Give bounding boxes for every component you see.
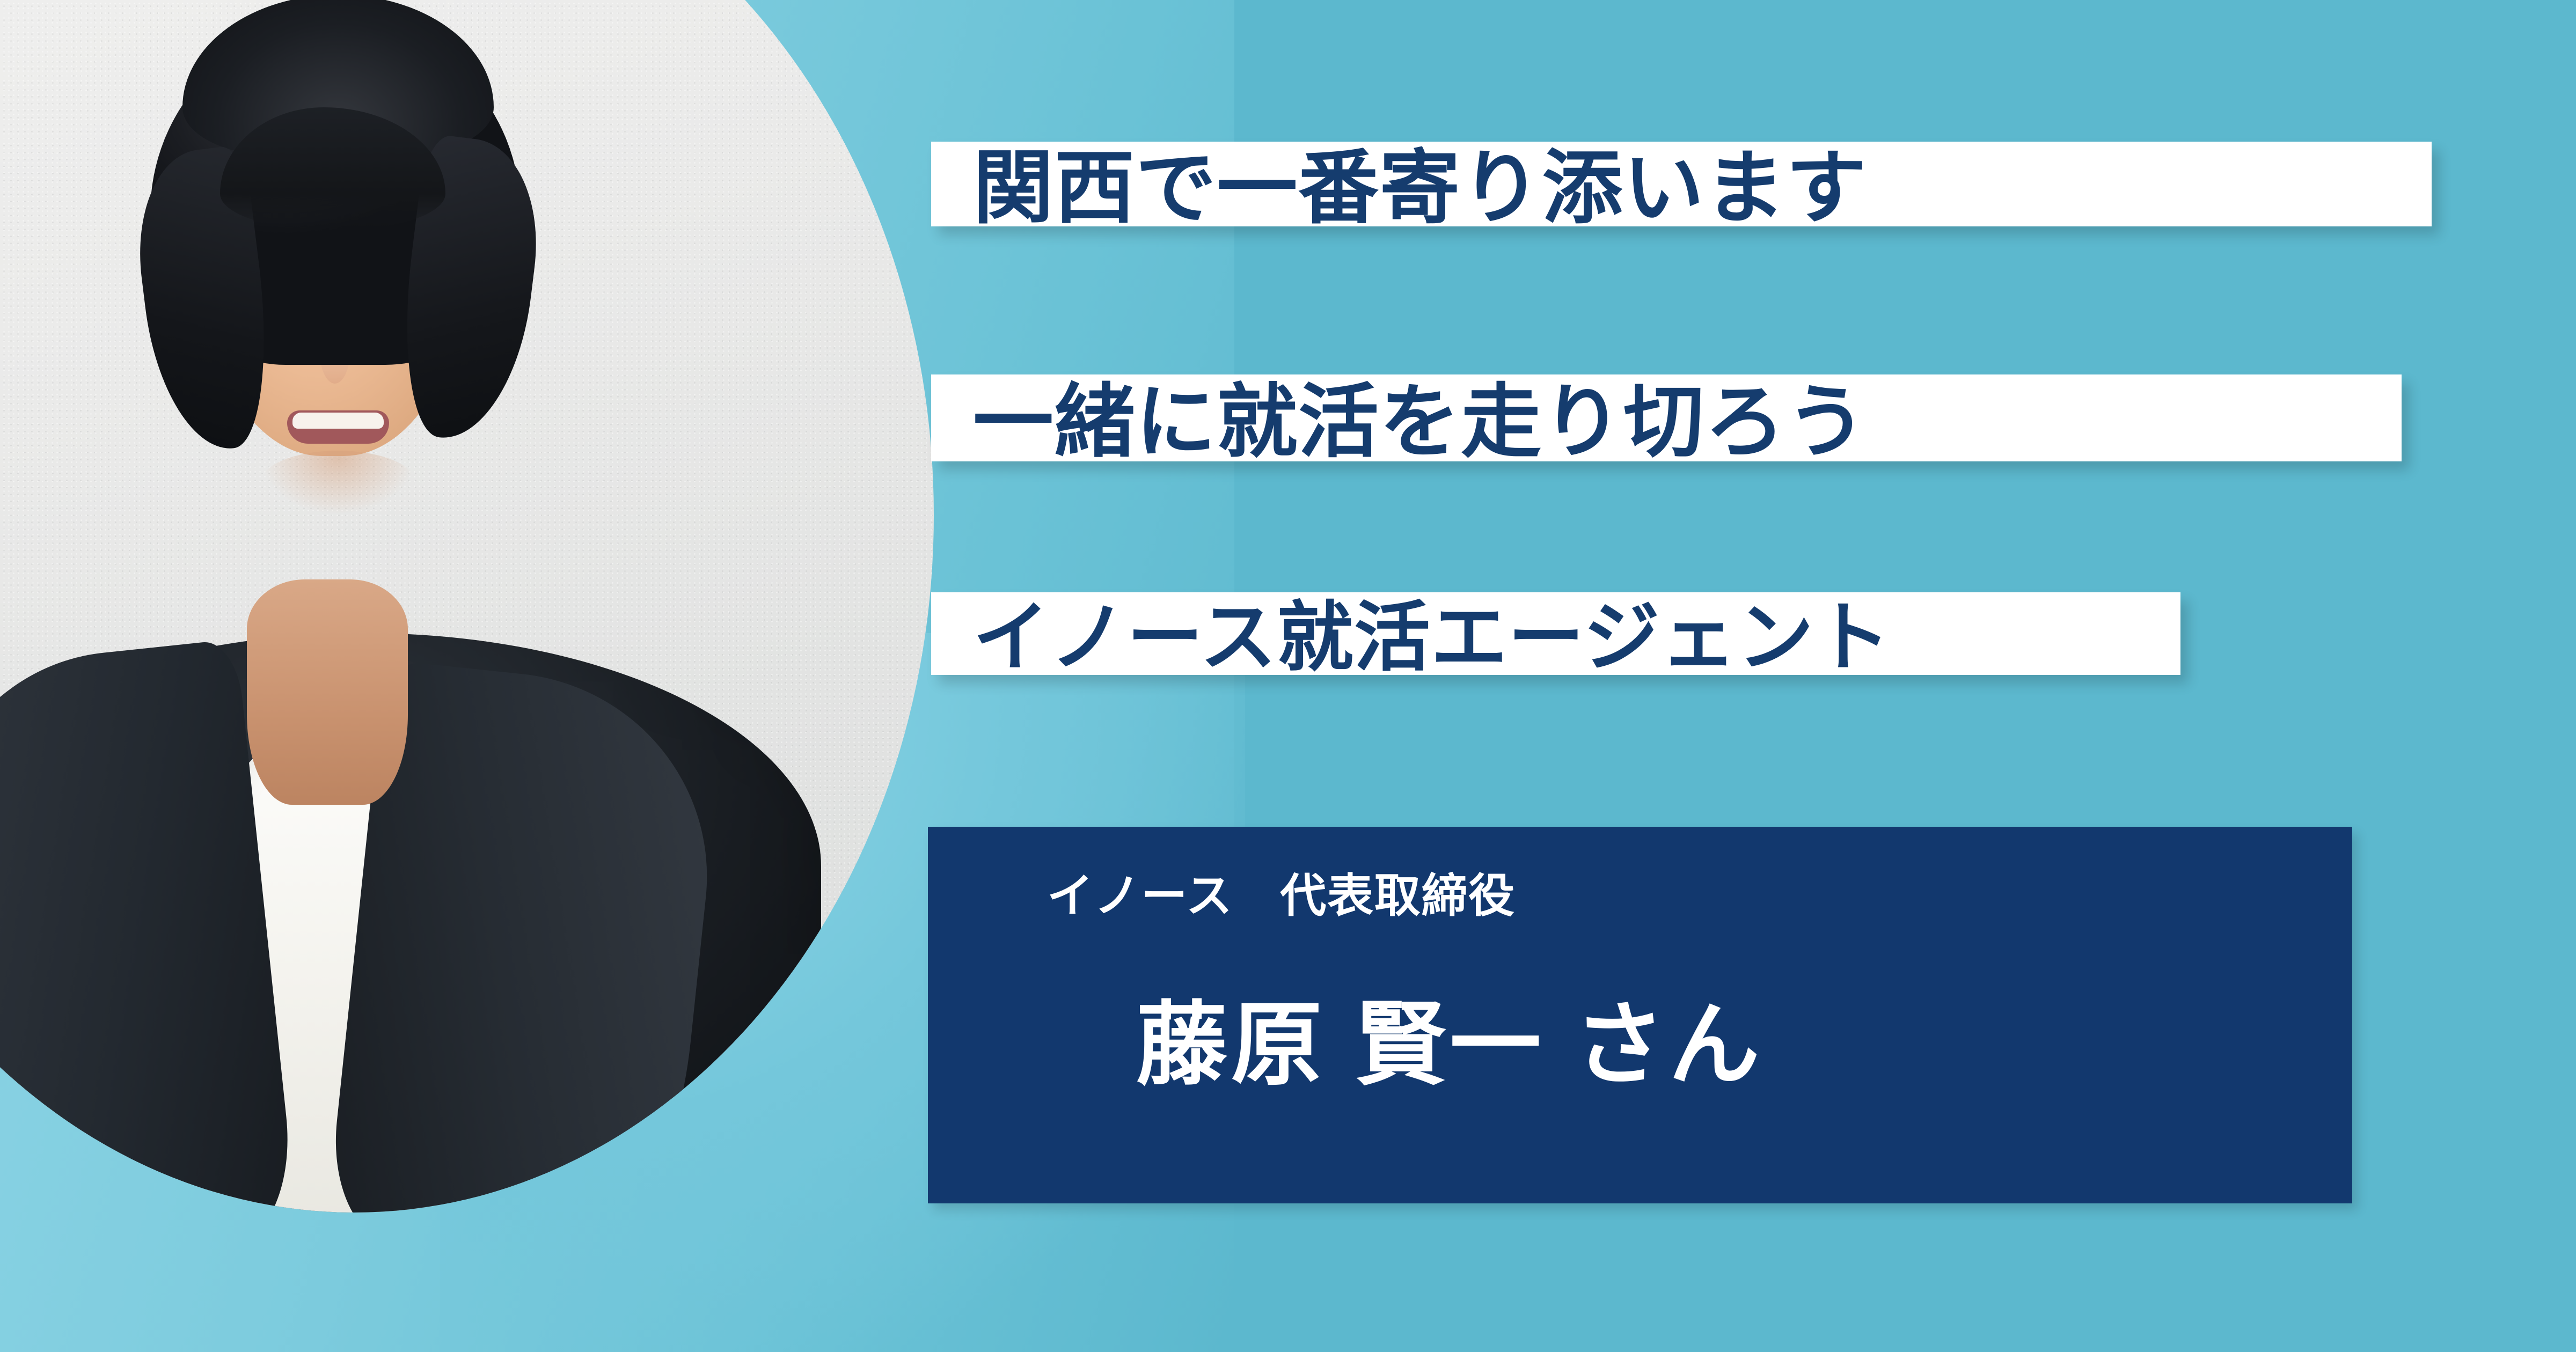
portrait-photo xyxy=(0,0,934,1213)
profile-name: 藤原 賢一 さん xyxy=(1136,971,1763,1103)
headline-box-1: 関西で一番寄り添います xyxy=(931,142,2432,226)
headline-box-2: 一緒に就活を走り切ろう xyxy=(931,374,2402,461)
banner-canvas: 関西で一番寄り添います 一緒に就活を走り切ろう イノース就活エージェント イノー… xyxy=(0,0,2576,1352)
neck xyxy=(247,579,408,805)
mouth xyxy=(287,410,389,444)
profile-role: イノース 代表取締役 xyxy=(1047,858,1516,925)
portrait-image xyxy=(0,0,934,1213)
profile-card: イノース 代表取締役 藤原 賢一 さん xyxy=(928,827,2352,1203)
teeth xyxy=(292,413,384,429)
headline-box-3: イノース就活エージェント xyxy=(931,592,2180,675)
headline-text-1: 関西で一番寄り添います xyxy=(973,123,1868,239)
headline-text-3: イノース就活エージェント xyxy=(973,575,1891,686)
chin-shadow xyxy=(260,451,416,515)
headline-text-2: 一緒に就活を走り切ろう xyxy=(973,357,1868,473)
